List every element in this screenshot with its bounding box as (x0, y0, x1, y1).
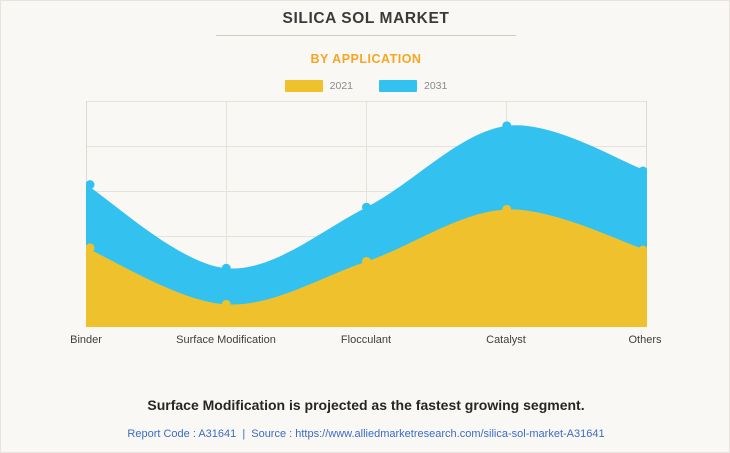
x-tick-binder: Binder (70, 334, 102, 346)
chart-subtitle: BY APPLICATION (1, 52, 730, 66)
data-point-2021-surface-modification[interactable] (222, 300, 231, 309)
legend-label-2031: 2031 (424, 80, 447, 92)
footer-insight-text: Surface Modification is projected as the… (1, 397, 730, 413)
x-tick-surface-modification: Surface Modification (176, 334, 276, 346)
chart-legend: 2021 2031 (1, 80, 730, 92)
report-code-label: Report Code : A31641 (127, 428, 236, 440)
data-point-2031-flocculant[interactable] (362, 203, 371, 212)
data-point-2031-surface-modification[interactable] (222, 264, 231, 273)
source-link[interactable]: Source : https://www.alliedmarketresearc… (251, 428, 604, 440)
x-tick-catalyst: Catalyst (486, 334, 526, 346)
title-divider (216, 35, 516, 36)
data-point-2031-binder[interactable] (86, 180, 95, 189)
x-tick-flocculant: Flocculant (341, 334, 391, 346)
source-separator: | (239, 428, 248, 440)
page-title: SILICA SOL MARKET (1, 10, 730, 28)
data-point-2021-catalyst[interactable] (502, 205, 511, 214)
footer-source-line: Report Code : A31641 | Source : https://… (1, 428, 730, 440)
x-tick-others: Others (628, 334, 661, 346)
legend-item-2021[interactable]: 2021 (285, 80, 353, 92)
legend-item-2031[interactable]: 2031 (379, 80, 447, 92)
legend-label-2021: 2021 (330, 80, 353, 92)
x-axis-labels: Binder Surface Modification Flocculant C… (86, 334, 647, 352)
data-point-2021-flocculant[interactable] (362, 257, 371, 266)
silica-sol-market-infographic: SILICA SOL MARKET BY APPLICATION 2021 20… (0, 0, 730, 453)
legend-swatch-2031-icon (379, 80, 417, 92)
data-point-2031-catalyst[interactable] (502, 121, 511, 130)
area-chart-svg (86, 101, 647, 327)
legend-swatch-2021-icon (285, 80, 323, 92)
chart-plot-area (86, 101, 647, 327)
